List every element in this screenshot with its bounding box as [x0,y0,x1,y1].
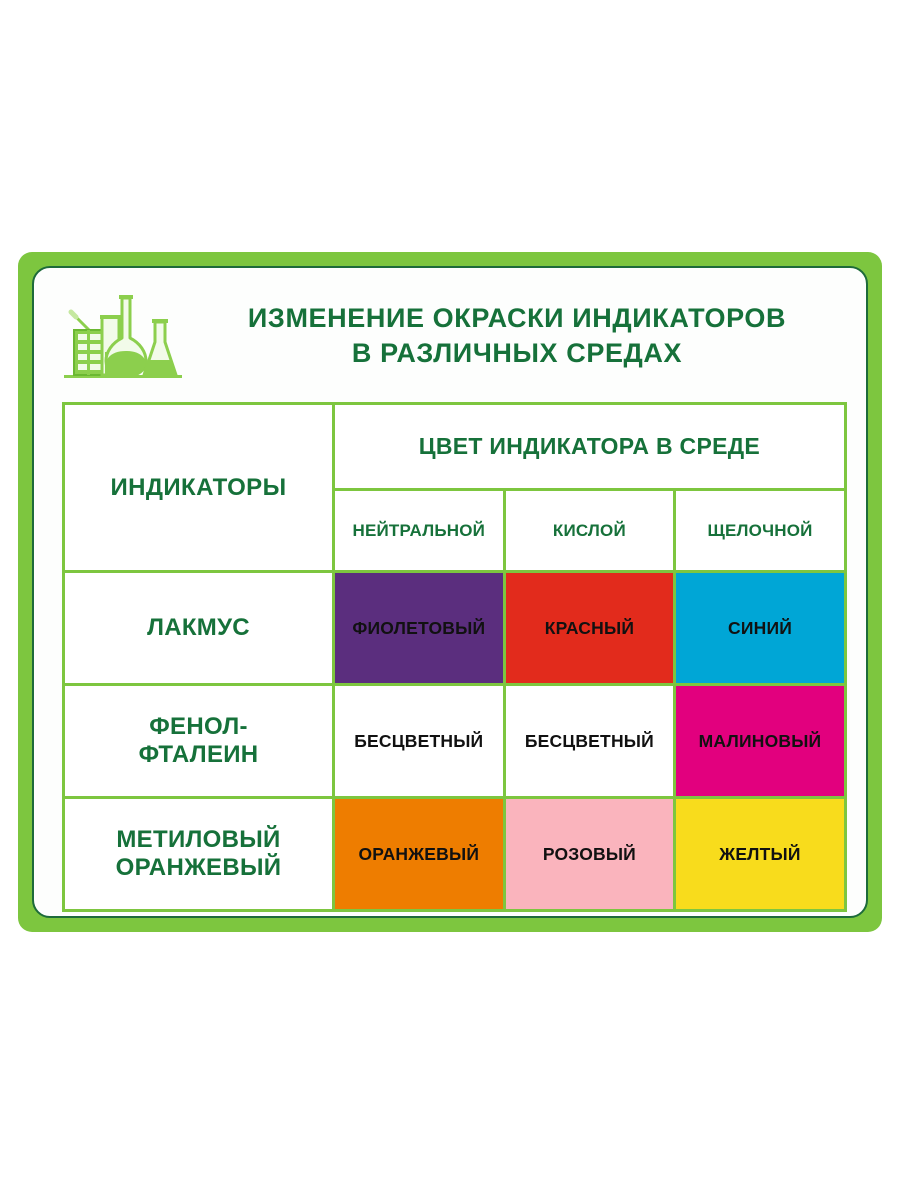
poster-inner-panel: ИЗМЕНЕНИЕ ОКРАСКИ ИНДИКАТОРОВ В РАЗЛИЧНЫ… [32,266,868,918]
indicators-table: ИНДИКАТОРЫ ЦВЕТ ИНДИКАТОРА В СРЕДЕ НЕЙТР… [62,402,847,912]
title-line-2: В РАЗЛИЧНЫХ СРЕДАХ [190,336,844,371]
cell-phenolphthalein-neutral: БЕСЦВЕТНЫЙ [334,685,505,798]
row-indicator-name: ФЕНОЛ- ФТАЛЕИН [64,685,334,798]
cell-methyl-orange-neutral: ОРАНЖЕВЫЙ [334,798,505,911]
header-indicators: ИНДИКАТОРЫ [64,404,334,572]
lab-glassware-icon [60,290,186,382]
row-indicator-name-line-2: ФТАЛЕИН [139,741,259,768]
cell-methyl-orange-alkaline: ЖЕЛТЫЙ [675,798,846,911]
cell-methyl-orange-acidic: РОЗОВЫЙ [504,798,675,911]
table-row: ФЕНОЛ- ФТАЛЕИН БЕСЦВЕТНЫЙ БЕСЦВЕТНЫЙ МАЛ… [64,685,846,798]
row-indicator-name-line-1: ФЕНОЛ- [149,713,248,740]
header-env-acidic: КИСЛОЙ [504,490,675,572]
cell-lakmus-alkaline: СИНИЙ [675,572,846,685]
table-row: ЛАКМУС ФИОЛЕТОВЫЙ КРАСНЫЙ СИНИЙ [64,572,846,685]
indicators-table-wrapper: ИНДИКАТОРЫ ЦВЕТ ИНДИКАТОРА В СРЕДЕ НЕЙТР… [62,402,844,906]
row-indicator-name: МЕТИЛОВЫЙ ОРАНЖЕВЫЙ [64,798,334,911]
cell-phenolphthalein-acidic: БЕСЦВЕТНЫЙ [504,685,675,798]
page-canvas: ИЗМЕНЕНИЕ ОКРАСКИ ИНДИКАТОРОВ В РАЗЛИЧНЫ… [0,0,900,1200]
header-color-in-environment: ЦВЕТ ИНДИКАТОРА В СРЕДЕ [334,404,846,490]
title-line-1: ИЗМЕНЕНИЕ ОКРАСКИ ИНДИКАТОРОВ [190,301,844,336]
cell-lakmus-acidic: КРАСНЫЙ [504,572,675,685]
header-env-neutral: НЕЙТРАЛЬНОЙ [334,490,505,572]
row-indicator-name: ЛАКМУС [64,572,334,685]
table-header-row-group: ИНДИКАТОРЫ ЦВЕТ ИНДИКАТОРА В СРЕДЕ [64,404,846,490]
row-indicator-name-line-2: ОРАНЖЕВЫЙ [116,854,282,881]
poster-title: ИЗМЕНЕНИЕ ОКРАСКИ ИНДИКАТОРОВ В РАЗЛИЧНЫ… [186,301,866,370]
cell-lakmus-neutral: ФИОЛЕТОВЫЙ [334,572,505,685]
poster-header: ИЗМЕНЕНИЕ ОКРАСКИ ИНДИКАТОРОВ В РАЗЛИЧНЫ… [34,276,866,396]
cell-phenolphthalein-alkaline: МАЛИНОВЫЙ [675,685,846,798]
header-env-alkaline: ЩЕЛОЧНОЙ [675,490,846,572]
table-row: МЕТИЛОВЫЙ ОРАНЖЕВЫЙ ОРАНЖЕВЫЙ РОЗОВЫЙ ЖЕ… [64,798,846,911]
poster-frame: ИЗМЕНЕНИЕ ОКРАСКИ ИНДИКАТОРОВ В РАЗЛИЧНЫ… [18,252,882,932]
row-indicator-name-line-1: МЕТИЛОВЫЙ [116,826,280,853]
